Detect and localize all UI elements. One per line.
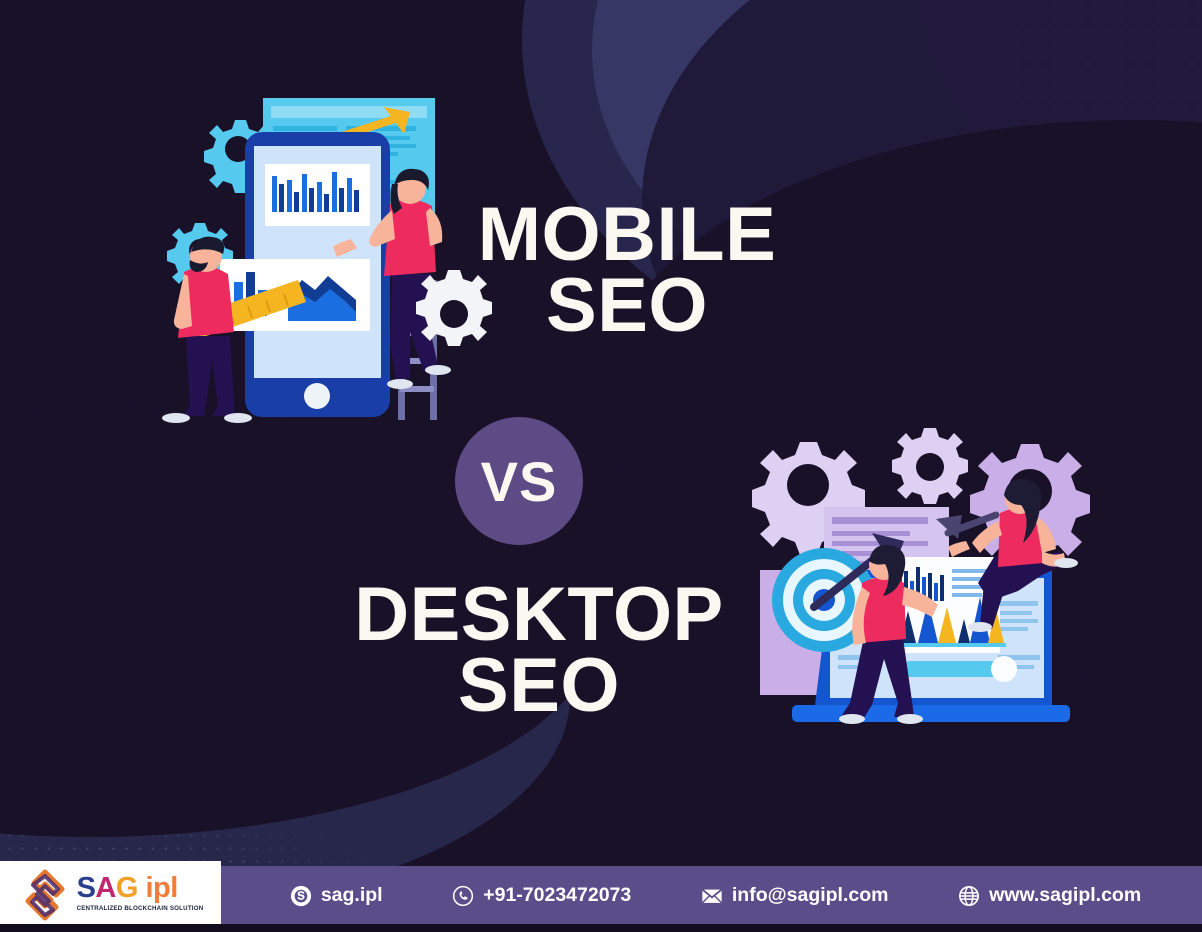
desktop-heading-line2: SEO [330,651,748,722]
skype-icon [290,885,312,907]
globe-icon [958,885,980,907]
logo-ipl-text: ipl [145,872,177,904]
footer-contact-bar: SAG ipl CENTRALIZED BLOCKCHAIN SOLUTION … [0,866,1202,925]
email-icon [701,885,723,907]
contact-phone-label: +91-7023472073 [483,884,631,907]
vs-label: VS [481,449,558,514]
phone-icon [452,885,474,907]
smartphone-home-button [304,383,330,409]
logo-brand-text: SAG ipl [77,874,178,903]
footer-contacts: sag.ipl +91-7023472073 info@sagipl.com [221,884,1202,907]
mobile-seo-illustration [160,84,500,429]
poster-canvas: MOBILE SEO VS DESKTOP SEO SAG ipl CENTRA… [0,0,1202,932]
top-right-wave-magenta [922,0,1202,200]
contact-website-label: www.sagipl.com [989,884,1141,907]
sag-logo-mark [18,867,72,921]
top-right-halftone-dots [802,0,1202,260]
contact-skype-label: sag.ipl [321,884,383,907]
contact-email[interactable]: info@sagipl.com [701,884,889,907]
contact-website[interactable]: www.sagipl.com [958,884,1141,907]
gear-icon-medium [892,428,968,504]
contact-email-label: info@sagipl.com [732,884,889,907]
mobile-seo-heading: MOBILE SEO [452,200,802,341]
progress-knob [991,656,1017,682]
contact-skype[interactable]: sag.ipl [290,884,383,907]
sag-ipl-logo[interactable]: SAG ipl CENTRALIZED BLOCKCHAIN SOLUTION [0,861,221,927]
mobile-heading-line2: SEO [452,271,802,342]
logo-tagline: CENTRALIZED BLOCKCHAIN SOLUTION [77,906,204,912]
contact-phone[interactable]: +91-7023472073 [452,884,631,907]
laptop-base [792,705,1070,722]
vs-badge: VS [455,417,583,545]
desktop-seo-heading: DESKTOP SEO [330,580,748,721]
desktop-seo-illustration [752,415,1112,755]
footer-bottom-strip [0,924,1202,932]
